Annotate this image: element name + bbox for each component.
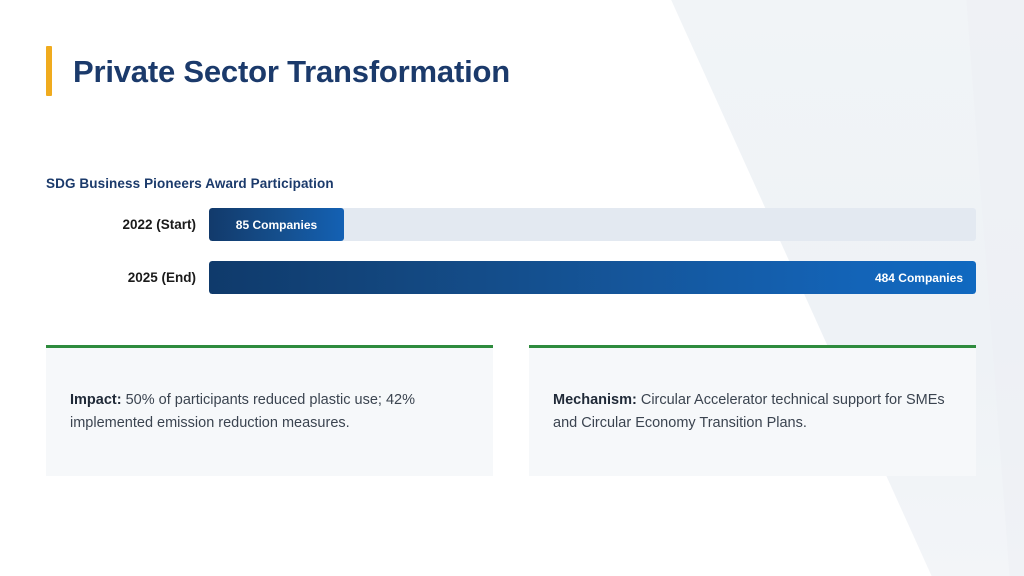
bar-value-label: 85 Companies xyxy=(236,218,317,232)
bar-chart: 2022 (Start) 85 Companies 2025 (End) 484… xyxy=(46,208,976,294)
callout-label: Mechanism: xyxy=(553,392,637,408)
callout-label: Impact: xyxy=(70,392,122,408)
bar-row: 2022 (Start) 85 Companies xyxy=(46,208,976,241)
slide-canvas: Private Sector Transformation SDG Busine… xyxy=(0,0,1024,576)
bar-row: 2025 (End) 484 Companies xyxy=(46,261,976,294)
callout-text: Impact: 50% of participants reduced plas… xyxy=(70,389,469,436)
bar-category-label: 2025 (End) xyxy=(46,270,209,285)
callout-card-mechanism: Mechanism: Circular Accelerator technica… xyxy=(529,345,976,476)
callout-cards: Impact: 50% of participants reduced plas… xyxy=(46,345,976,476)
callout-body: 50% of participants reduced plastic use;… xyxy=(70,392,415,431)
chart-title: SDG Business Pioneers Award Participatio… xyxy=(46,176,334,191)
title-accent-bar xyxy=(46,46,52,96)
bar-track: 484 Companies xyxy=(209,261,976,294)
bar-value-label: 484 Companies xyxy=(875,271,963,285)
bar-track: 85 Companies xyxy=(209,208,976,241)
page-title: Private Sector Transformation xyxy=(73,56,510,87)
bar-fill: 484 Companies xyxy=(209,261,976,294)
callout-card-impact: Impact: 50% of participants reduced plas… xyxy=(46,345,493,476)
bar-category-label: 2022 (Start) xyxy=(46,217,209,232)
bar-fill: 85 Companies xyxy=(209,208,344,241)
callout-text: Mechanism: Circular Accelerator technica… xyxy=(553,389,952,436)
slide-header: Private Sector Transformation xyxy=(46,46,510,96)
